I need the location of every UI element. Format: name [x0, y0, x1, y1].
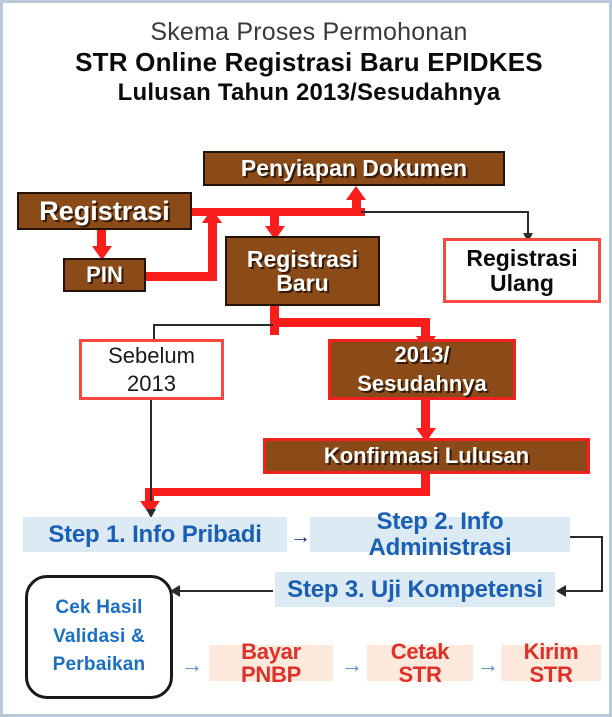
arrow-cek-to-bayar-icon: →	[181, 654, 203, 676]
connector-step2-right	[570, 536, 603, 538]
page-title: Skema Proses Permohonan STR Online Regis…	[3, 17, 612, 108]
connector-bus-to-registrasi-ulang-h	[361, 211, 529, 213]
arrow-cetak-to-kirim-icon: →	[477, 654, 499, 676]
node-registrasi-ulang-label-2: Ulang	[490, 271, 554, 295]
connector-konfirmasi-left	[145, 488, 430, 496]
node-registrasi-ulang-label-1: Registrasi	[466, 246, 577, 270]
node-pin-label: PIN	[86, 263, 123, 286]
node-bayar-pnbp[interactable]: Bayar PNBP	[209, 645, 333, 681]
node-sebelum-2013[interactable]: Sebelum 2013	[79, 339, 224, 400]
title-line-2: STR Online Registrasi Baru EPIDKES	[3, 47, 612, 78]
node-step-3[interactable]: Step 3. Uji Kompetensi	[275, 572, 555, 607]
node-kirim-str-label: Kirim STR	[501, 640, 601, 687]
title-line-3: Lulusan Tahun 2013/Sesudahnya	[3, 78, 612, 108]
arrow-step1-to-step2-icon: →	[290, 526, 311, 547]
connector-bus-to-registrasi-ulang-v	[527, 211, 529, 235]
node-cek-hasil-validasi[interactable]: Cek Hasil Validasi & Perbaikan	[25, 575, 173, 699]
node-registrasi-baru-label-1: Registrasi	[247, 247, 358, 271]
node-registrasi-baru-label-2: Baru	[276, 271, 328, 295]
node-penyiapan-dokumen-label: Penyiapan Dokumen	[241, 156, 467, 180]
node-bayar-pnbp-label: Bayar PNBP	[209, 640, 333, 687]
diagram-canvas: Skema Proses Permohonan STR Online Regis…	[0, 0, 612, 717]
node-cek-hasil-label-1: Cek Hasil	[55, 594, 142, 623]
node-kirim-str[interactable]: Kirim STR	[501, 645, 601, 681]
arrowhead-step3	[556, 585, 566, 597]
node-cetak-str[interactable]: Cetak STR	[367, 645, 473, 681]
node-registrasi-ulang[interactable]: Registrasi Ulang	[443, 238, 601, 303]
node-2013-sesudahnya-label-1: 2013/	[394, 341, 449, 370]
node-registrasi-label: Registrasi	[39, 197, 170, 226]
node-step-1[interactable]: Step 1. Info Pribadi	[23, 517, 287, 552]
node-2013-sesudahnya-label-2: Sesudahnya	[357, 370, 487, 399]
node-step-2[interactable]: Step 2. Info Administrasi	[310, 517, 570, 552]
node-konfirmasi-lulusan-label: Konfirmasi Lulusan	[324, 444, 529, 467]
connector-sebelum-down	[150, 397, 152, 513]
node-sebelum-2013-label-1: Sebelum	[108, 342, 195, 370]
connector-into-step3	[564, 590, 603, 592]
node-step-1-label: Step 1. Info Pribadi	[48, 522, 261, 547]
node-cek-hasil-label-3: Perbaikan	[53, 651, 146, 680]
connector-baru-to-sebelum-h	[153, 324, 273, 326]
node-registrasi[interactable]: Registrasi	[17, 192, 192, 230]
connector-baru-to-sesudahnya-h	[270, 318, 430, 327]
node-sebelum-2013-label-2: 2013	[127, 370, 176, 398]
arrow-bayar-to-cetak-icon: →	[341, 654, 363, 676]
node-pin[interactable]: PIN	[63, 258, 146, 292]
connector-bus-to-penyiapan	[352, 199, 361, 216]
node-cetak-str-label: Cetak STR	[367, 640, 473, 687]
arrowhead-bus-to-penyiapan	[346, 186, 366, 200]
arrowhead-pin-to-registrasi	[202, 209, 222, 223]
node-2013-sesudahnya[interactable]: 2013/ Sesudahnya	[328, 339, 516, 400]
connector-sesudahnya-to-konfirmasi	[421, 399, 430, 431]
title-line-1: Skema Proses Permohonan	[3, 17, 612, 47]
node-registrasi-baru[interactable]: Registrasi Baru	[225, 236, 380, 306]
node-penyiapan-dokumen[interactable]: Penyiapan Dokumen	[203, 151, 505, 186]
node-konfirmasi-lulusan[interactable]: Konfirmasi Lulusan	[263, 438, 590, 474]
node-step-2-label: Step 2. Info Administrasi	[310, 509, 570, 560]
connector-step3-to-cek	[178, 590, 273, 592]
node-step-3-label: Step 3. Uji Kompetensi	[287, 577, 543, 602]
connector-pin-up	[208, 221, 217, 281]
connector-step2-down	[601, 536, 603, 592]
connector-pin-right	[145, 272, 217, 281]
node-cek-hasil-label-2: Validasi &	[53, 623, 145, 652]
